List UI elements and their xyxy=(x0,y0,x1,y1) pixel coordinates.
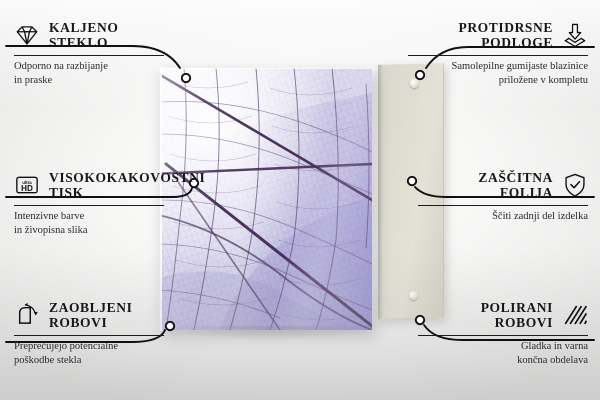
shield-check-icon xyxy=(562,172,588,198)
divider xyxy=(14,55,164,56)
feature-title: ZAOBLJENI ROBOVI xyxy=(49,300,132,330)
feature-zascitna-folija: ZAŠČITNA FOLIJA Ščiti zadnji del izdelka xyxy=(418,170,588,224)
divider xyxy=(418,205,588,206)
description-line: Ščiti zadnji del izdelka xyxy=(418,210,588,224)
feature-description: Odporno na razbijanje in praske xyxy=(14,60,164,88)
feature-description: Gladka in varna končna obdelava xyxy=(418,340,588,368)
divider xyxy=(418,335,588,336)
title-line: ZAŠČITNA xyxy=(478,170,553,185)
divider xyxy=(14,335,164,336)
ultra-hd-badge-icon: ultra HD xyxy=(14,172,40,198)
title-line: FOLIJA xyxy=(500,185,553,200)
feature-title: KALJENO STEKLO xyxy=(49,20,118,50)
description-line: in praske xyxy=(14,74,164,88)
feature-header: ultra HD VISOKOKAKOVOSTNI TISK xyxy=(14,170,164,200)
description-line: in živopisna slika xyxy=(14,224,164,238)
title-line: PODLOGE xyxy=(481,35,553,50)
feature-description: Ščiti zadnji del izdelka xyxy=(418,210,588,224)
feature-description: Preprečujejo potencialne poškodbe stekla xyxy=(14,340,164,368)
divider xyxy=(14,205,164,206)
rounded-corner-icon xyxy=(14,302,40,328)
feature-title: ZAŠČITNA FOLIJA xyxy=(478,170,553,200)
feature-polirani-robovi: POLIRANI ROBOVI Gladka in varna končna o… xyxy=(418,300,588,368)
feature-title: POLIRANI ROBOVI xyxy=(481,300,553,330)
description-line: Odporno na razbijanje xyxy=(14,60,164,74)
description-line: končna obdelava xyxy=(418,354,588,368)
feature-zaobljeni-robovi: ZAOBLJENI ROBOVI Preprečujejo potencialn… xyxy=(14,300,164,368)
feature-protidrsne-podloge: PROTIDRSNE PODLOGE Samolepilne gumijaste… xyxy=(408,20,588,88)
feature-visokokakovostni-tisk: ultra HD VISOKOKAKOVOSTNI TISK Intenzivn… xyxy=(14,170,164,238)
feature-kaljeno-steklo: KALJENO STEKLO Odporno na razbijanje in … xyxy=(14,20,164,88)
feature-header: ZAŠČITNA FOLIJA xyxy=(418,170,588,200)
diagonal-lines-icon xyxy=(562,302,588,328)
feature-description: Samolepilne gumijaste blazinice priložen… xyxy=(408,60,588,88)
divider xyxy=(408,55,588,56)
title-line: VISOKOKAKOVOSTNI xyxy=(49,170,205,185)
feature-header: ZAOBLJENI ROBOVI xyxy=(14,300,164,330)
description-line: Intenzivne barve xyxy=(14,210,164,224)
title-line: POLIRANI xyxy=(481,300,553,315)
diamond-icon xyxy=(14,22,40,48)
rubber-pad xyxy=(409,291,418,300)
description-line: Gladka in varna xyxy=(418,340,588,354)
title-line: ROBOVI xyxy=(49,315,132,330)
feature-title: VISOKOKAKOVOSTNI TISK xyxy=(49,170,205,200)
description-line: Preprečujejo potencialne xyxy=(14,340,164,354)
title-line: ZAOBLJENI xyxy=(49,300,132,315)
title-line: STEKLO xyxy=(49,35,118,50)
description-line: priložene v kompletu xyxy=(408,74,588,88)
title-line: KALJENO xyxy=(49,20,118,35)
badge-large-text: HD xyxy=(21,184,33,193)
feature-description: Intenzivne barve in živopisna slika xyxy=(14,210,164,238)
title-line: PROTIDRSNE xyxy=(458,20,553,35)
description-line: poškodbe stekla xyxy=(14,354,164,368)
feature-title: PROTIDRSNE PODLOGE xyxy=(458,20,553,50)
feature-header: PROTIDRSNE PODLOGE xyxy=(408,20,588,50)
feature-header: POLIRANI ROBOVI xyxy=(418,300,588,330)
description-line: Samolepilne gumijaste blazinice xyxy=(408,60,588,74)
download-pads-icon xyxy=(562,22,588,48)
title-line: ROBOVI xyxy=(495,315,553,330)
title-line: TISK xyxy=(49,185,205,200)
product-infographic: KALJENO STEKLO Odporno na razbijanje in … xyxy=(0,0,600,400)
feature-header: KALJENO STEKLO xyxy=(14,20,164,50)
